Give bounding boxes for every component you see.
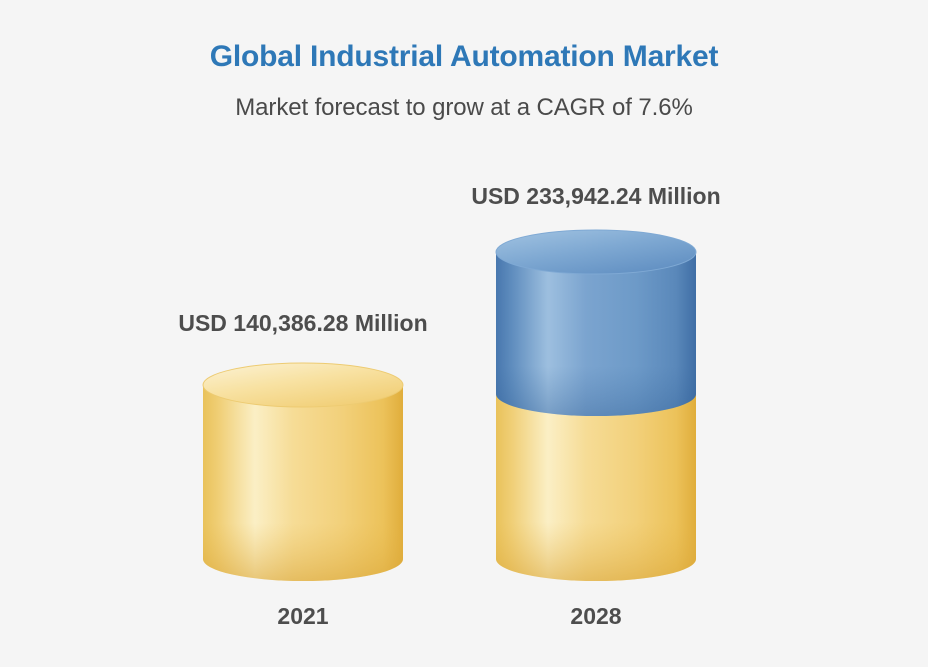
bar-bottom-shade-2021 — [203, 523, 403, 581]
bar-top-ellipse-2028 — [496, 230, 696, 274]
bar-cylinder-2028-graphic — [496, 230, 696, 583]
bar-split-shade-2028 — [496, 366, 696, 416]
bar-cylinder-2028[interactable] — [496, 230, 696, 583]
value-label-2021: USD 140,386.28 Million — [103, 310, 503, 337]
chart-container: Global Industrial Automation Market Mark… — [0, 0, 928, 667]
category-label-2028: 2028 — [496, 603, 696, 630]
chart-title: Global Industrial Automation Market — [0, 40, 928, 74]
category-label-2021: 2021 — [203, 603, 403, 630]
chart-subtitle: Market forecast to grow at a CAGR of 7.6… — [0, 94, 928, 122]
bar-top-ellipse-2021 — [203, 363, 403, 407]
bar-cylinder-2021[interactable] — [203, 363, 403, 583]
bar-cylinder-2021-graphic — [203, 363, 403, 583]
bar-bottom-shade-2028 — [496, 522, 696, 581]
value-label-2028: USD 233,942.24 Million — [396, 183, 796, 210]
